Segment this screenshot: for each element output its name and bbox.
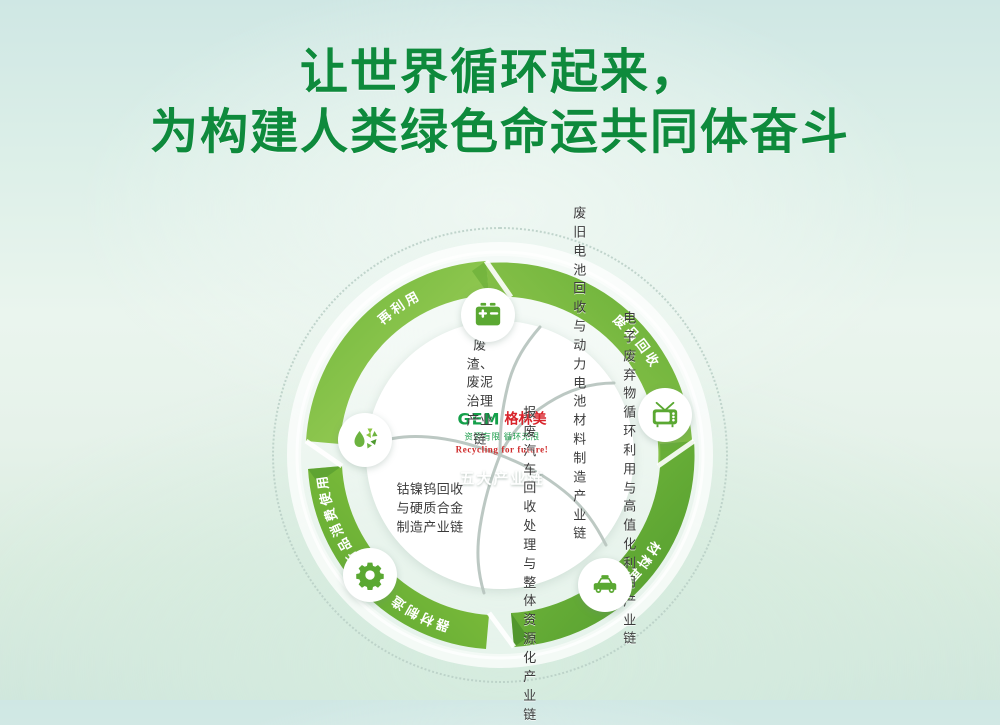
logo-brand-row: GEM 格林美 — [437, 412, 567, 428]
page-title-line1: 让世界循环起来， — [300, 44, 700, 100]
center-logo: GEM 格林美 资源有限 循环无限 Recycling for future! … — [437, 412, 567, 489]
chain-icon-wastewater[interactable] — [338, 413, 392, 467]
chain-label-battery: 废旧电池回收 与动力电池材 料制造产业链 — [573, 205, 586, 544]
battery-icon — [473, 300, 503, 330]
logo-slogan-en: Recycling for future! — [437, 445, 567, 455]
page-title: 让世界循环起来， 为构建人类绿色命运共同体奋斗 — [0, 42, 1000, 163]
infographic-canvas: 让世界循环起来， 为构建人类绿色命运共同体奋斗 — [0, 0, 1000, 700]
chain-label-vehicle: 报废汽车回收 处理与整体资 源化产业链 — [523, 405, 536, 725]
chain-icon-vehicle[interactable] — [578, 558, 632, 612]
page-title-line2: 为构建人类绿色命运共同体奋斗 — [0, 102, 1000, 162]
tv-icon — [650, 400, 680, 430]
chain-icon-cobalt-nickel-tungsten[interactable] — [343, 548, 397, 602]
chain-icon-ewaste[interactable] — [638, 388, 692, 442]
water-recycle-icon — [349, 424, 381, 456]
chain-label-cobalt-nickel-tungsten: 钴镍钨回收 与硬质合金 制造产业链 — [396, 482, 463, 539]
gear-icon — [355, 560, 385, 590]
chain-icon-battery[interactable] — [461, 288, 515, 342]
car-icon — [590, 570, 620, 600]
logo-slogan-cn: 资源有限 循环无限 — [437, 431, 567, 443]
